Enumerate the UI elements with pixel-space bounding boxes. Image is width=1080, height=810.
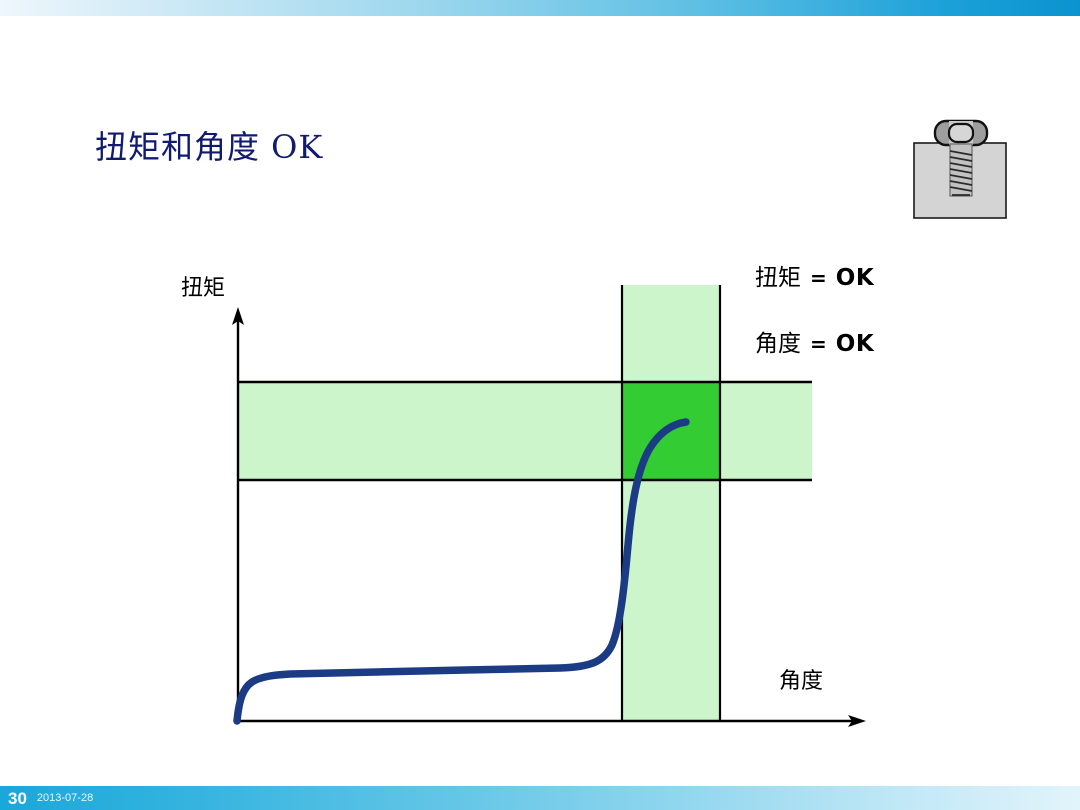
status-angle: 角度=OK [755,324,874,358]
status-torque: 扭矩=OK [755,258,874,292]
status-torque-equals: = [810,266,827,290]
status-angle-label: 角度 [755,331,801,357]
torque-tolerance-band [237,382,812,480]
footer-date: 2013-07-28 [37,793,93,804]
status-angle-equals: = [810,332,827,356]
x-axis-label: 角度 [779,663,823,695]
torque-angle-chart [0,0,1080,810]
status-angle-value: OK [836,331,874,357]
page-number: 30 [8,790,27,807]
status-torque-value: OK [836,265,874,291]
status-torque-label: 扭矩 [755,265,801,291]
footer-bar: 30 2013-07-28 [0,786,1080,810]
y-axis-label: 扭矩 [181,270,225,302]
